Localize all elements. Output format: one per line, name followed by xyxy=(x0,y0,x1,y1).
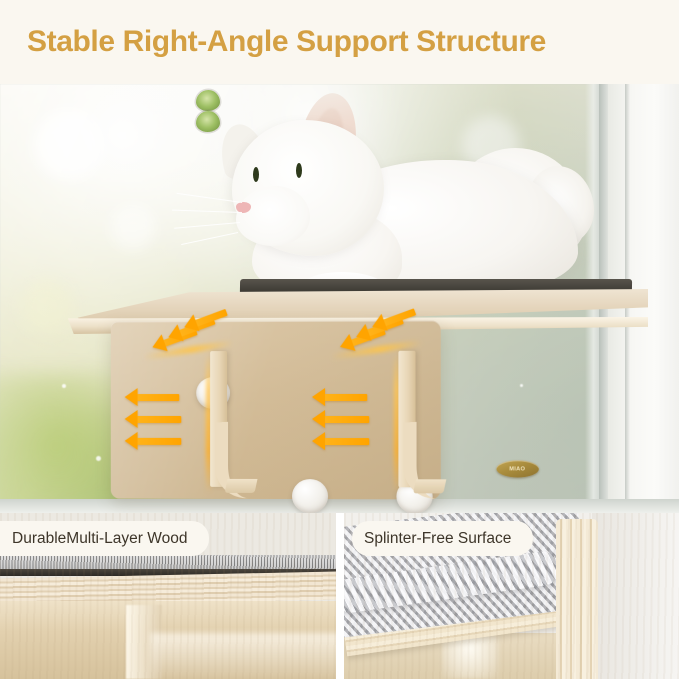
bracket-foot xyxy=(413,479,446,493)
bracket-foot xyxy=(225,479,258,493)
detail-splinter-free-surface: Splinter-Free Surface xyxy=(344,513,679,679)
detail-label-right-text: Splinter-Free Surface xyxy=(364,530,511,548)
cat xyxy=(196,90,576,302)
product-feature-card: Stable Right-Angle Support Structure xyxy=(0,0,679,679)
suction-cup xyxy=(292,479,328,513)
detail-durable-multi-layer-wood: DurableMulti-Layer Wood xyxy=(0,513,336,679)
mounting-back-panel: MIAO xyxy=(111,321,441,500)
brand-badge: MIAO xyxy=(496,460,539,477)
shelf-side-riser xyxy=(556,519,598,679)
detail-label-right: Splinter-Free Surface xyxy=(352,521,533,556)
plywood-under-highlight xyxy=(150,633,336,679)
detail-panels: DurableMulti-Layer Wood Splinter-Free Su… xyxy=(0,513,679,679)
cat-pupil-left xyxy=(253,167,259,182)
detail-label-left-text: DurableMulti-Layer Wood xyxy=(12,530,187,548)
right-angle-bracket-right xyxy=(376,351,445,502)
cat-muzzle xyxy=(236,186,310,246)
cat-pupil-right xyxy=(296,163,302,178)
right-angle-bracket-left xyxy=(188,351,256,501)
wall-background xyxy=(592,513,679,679)
header-banner: Stable Right-Angle Support Structure xyxy=(0,0,679,84)
cat-eye-right xyxy=(196,111,220,132)
hero-product-photo: MIAO xyxy=(0,84,679,513)
cat-window-shelf: MIAO xyxy=(60,279,679,513)
brand-badge-text: MIAO xyxy=(510,466,526,472)
page-title: Stable Right-Angle Support Structure xyxy=(0,25,546,59)
cat-eye-left xyxy=(196,90,220,111)
panel-divider xyxy=(336,513,344,679)
detail-label-left: DurableMulti-Layer Wood xyxy=(0,521,209,556)
